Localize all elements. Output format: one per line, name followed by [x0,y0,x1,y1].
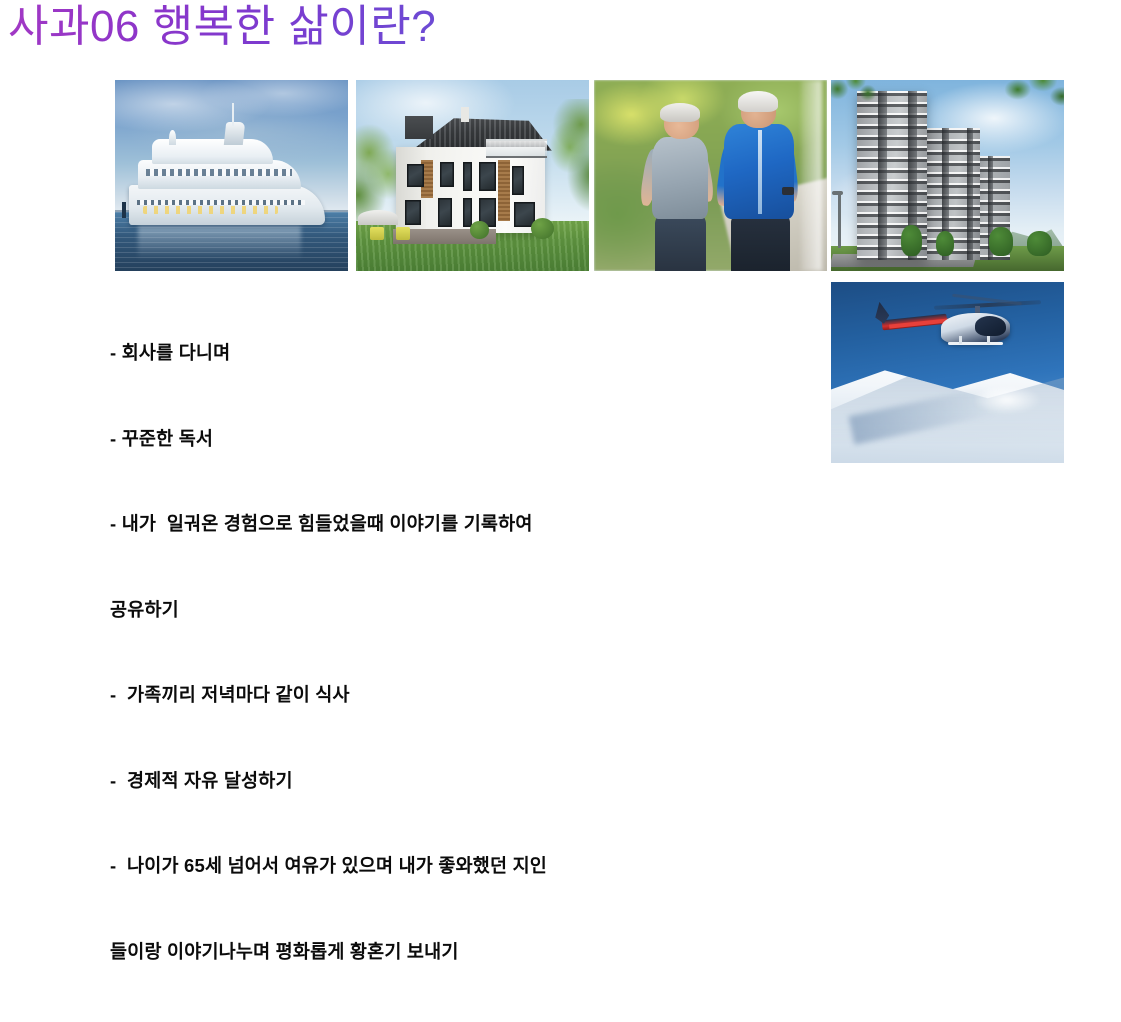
man-jacket-zipper [758,130,762,214]
street-tree-4 [1027,231,1053,256]
list-item-continuation: 공유하기 [110,596,750,625]
window-lower-3 [463,198,472,227]
garden-bush-2 [531,218,554,239]
man-legs [731,214,789,271]
ship-mast [232,103,234,126]
window-lower-1 [405,200,421,225]
image-helicopter-snow-mountain[interactable] [831,282,1064,463]
landing-skid [948,342,1004,345]
window-upper-2 [440,162,454,187]
image-cruise-ship[interactable] [115,80,348,271]
foreground-leaves-right [994,80,1064,126]
wood-panel-right [498,160,510,221]
house-illustration [356,80,589,271]
list-item: - 나이가 65세 넘어서 여유가 있으며 내가 좋와했던 지인 [110,852,750,881]
man-jogger [594,80,827,271]
skid-strut-rear [959,336,962,343]
presentation-slide: 사과06 행복한 삶이란? [0,0,1121,511]
helicopter-illustration [831,282,1064,463]
image-senior-couple-jogging[interactable] [594,80,827,271]
window-upper-3 [463,162,472,191]
list-item: - 가족끼리 저녁마다 같이 식사 [110,681,750,710]
skid-strut-front [987,336,990,343]
window-upper-4 [479,162,495,191]
street-tree-1 [901,225,922,256]
window-upper-1 [407,164,423,187]
snow-spray [975,376,1054,416]
water-reflection [138,225,301,259]
apartment-illustration [831,80,1064,271]
garden-chair-1 [370,227,384,240]
garden-chair-2 [396,227,410,240]
bullet-list: - 회사를 다니며 - 꾸준한 독서 - 내가 일궈온 경험으로 힘들었을때 이… [110,282,750,1022]
window-lower-2 [438,198,452,227]
vertical-stripe [967,128,972,260]
list-item: - 경제적 자유 달성하기 [110,767,750,796]
ship-bow-tower [169,130,176,145]
list-item: - 꾸준한 독서 [110,425,750,454]
sea-buoy [122,202,126,217]
garden-bush-1 [470,221,489,238]
list-item-continuation: 들이랑 이야기나누며 평화롭게 황혼기 보내기 [110,938,750,967]
ship-deck [138,160,301,189]
man-hair [738,91,778,112]
street-lamp [838,191,841,248]
street-tree-2 [936,231,955,256]
foreground-leaves-left [831,80,885,122]
cruise-ship-illustration [115,80,348,271]
street-tree-3 [989,227,1012,256]
jogging-illustration [594,80,827,271]
cockpit-window [975,316,1005,336]
page-title: 사과06 행복한 삶이란? [8,0,436,56]
roof-balcony [486,139,547,158]
image-apartment-complex[interactable] [831,80,1064,271]
window-upper-5 [512,166,524,195]
garden-umbrella [358,210,398,225]
roof-dormer [405,116,433,139]
chimney [461,107,469,122]
ship-cabin-lights [143,206,278,214]
list-item: - 내가 일궈온 경험으로 힘들었을때 이야기를 기록하여 [110,510,750,539]
image-modern-house[interactable] [356,80,589,271]
ship-funnel [223,122,244,145]
man-wristwatch [782,187,795,195]
list-item: - 회사를 다니며 [110,339,750,368]
